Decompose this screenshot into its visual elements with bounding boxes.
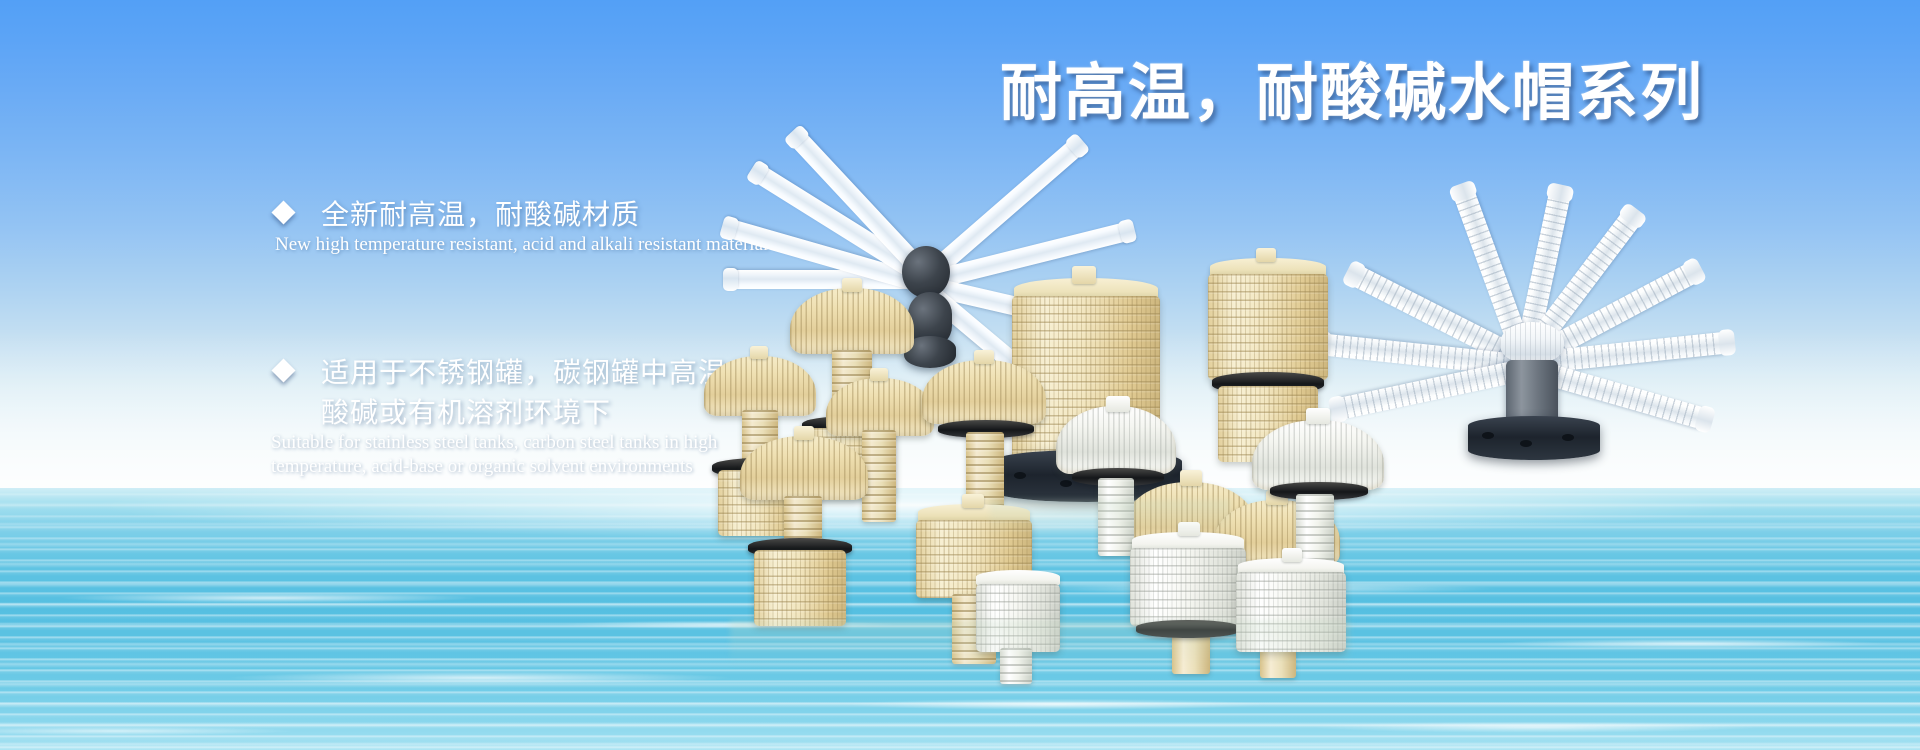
flange-hole <box>1060 480 1072 487</box>
dome-knob <box>794 426 814 440</box>
hub-flange <box>1468 416 1600 460</box>
disc-filter-knob <box>1256 248 1276 262</box>
arm-hub <box>902 246 950 298</box>
white-drum-knob <box>1282 548 1302 562</box>
diamond-bullet-icon <box>271 359 295 383</box>
dome-knob <box>750 346 768 359</box>
dome-knob <box>870 368 888 381</box>
ribbed-dome-cap <box>704 356 816 416</box>
flange-hole <box>1562 434 1574 441</box>
disc-filter-body <box>1208 274 1328 380</box>
promo-banner: 耐高温，耐酸碱水帽系列 全新耐高温，耐酸碱材质 New high tempera… <box>0 0 1920 750</box>
page-title: 耐高温，耐酸碱水帽系列 <box>1000 58 1704 129</box>
white-dome-knob <box>1106 396 1130 412</box>
dome-knob <box>1180 470 1202 486</box>
flange-hole <box>1520 440 1532 447</box>
ribbed-dome-cap <box>826 378 934 436</box>
product-image <box>690 120 1920 680</box>
water-reflection <box>990 500 1230 536</box>
drum-nozzle-knob <box>962 494 984 508</box>
nozzle-slot-body <box>754 550 846 626</box>
dome-knob <box>842 278 862 292</box>
filter-column-knob <box>1072 266 1096 284</box>
white-drum-body <box>1130 548 1246 626</box>
diamond-bullet-icon <box>271 200 295 224</box>
water-reflection <box>730 620 1350 666</box>
white-dome-knob <box>1306 408 1330 424</box>
corrugated-lateral-arm <box>1332 360 1520 421</box>
ribbed-dome-cap <box>790 288 914 354</box>
flange-hole <box>1482 432 1494 439</box>
white-dome-cap <box>1252 420 1384 490</box>
corrugated-arm-hub <box>1500 322 1564 364</box>
flange-hole <box>1014 472 1026 479</box>
dome-knob <box>974 350 994 364</box>
